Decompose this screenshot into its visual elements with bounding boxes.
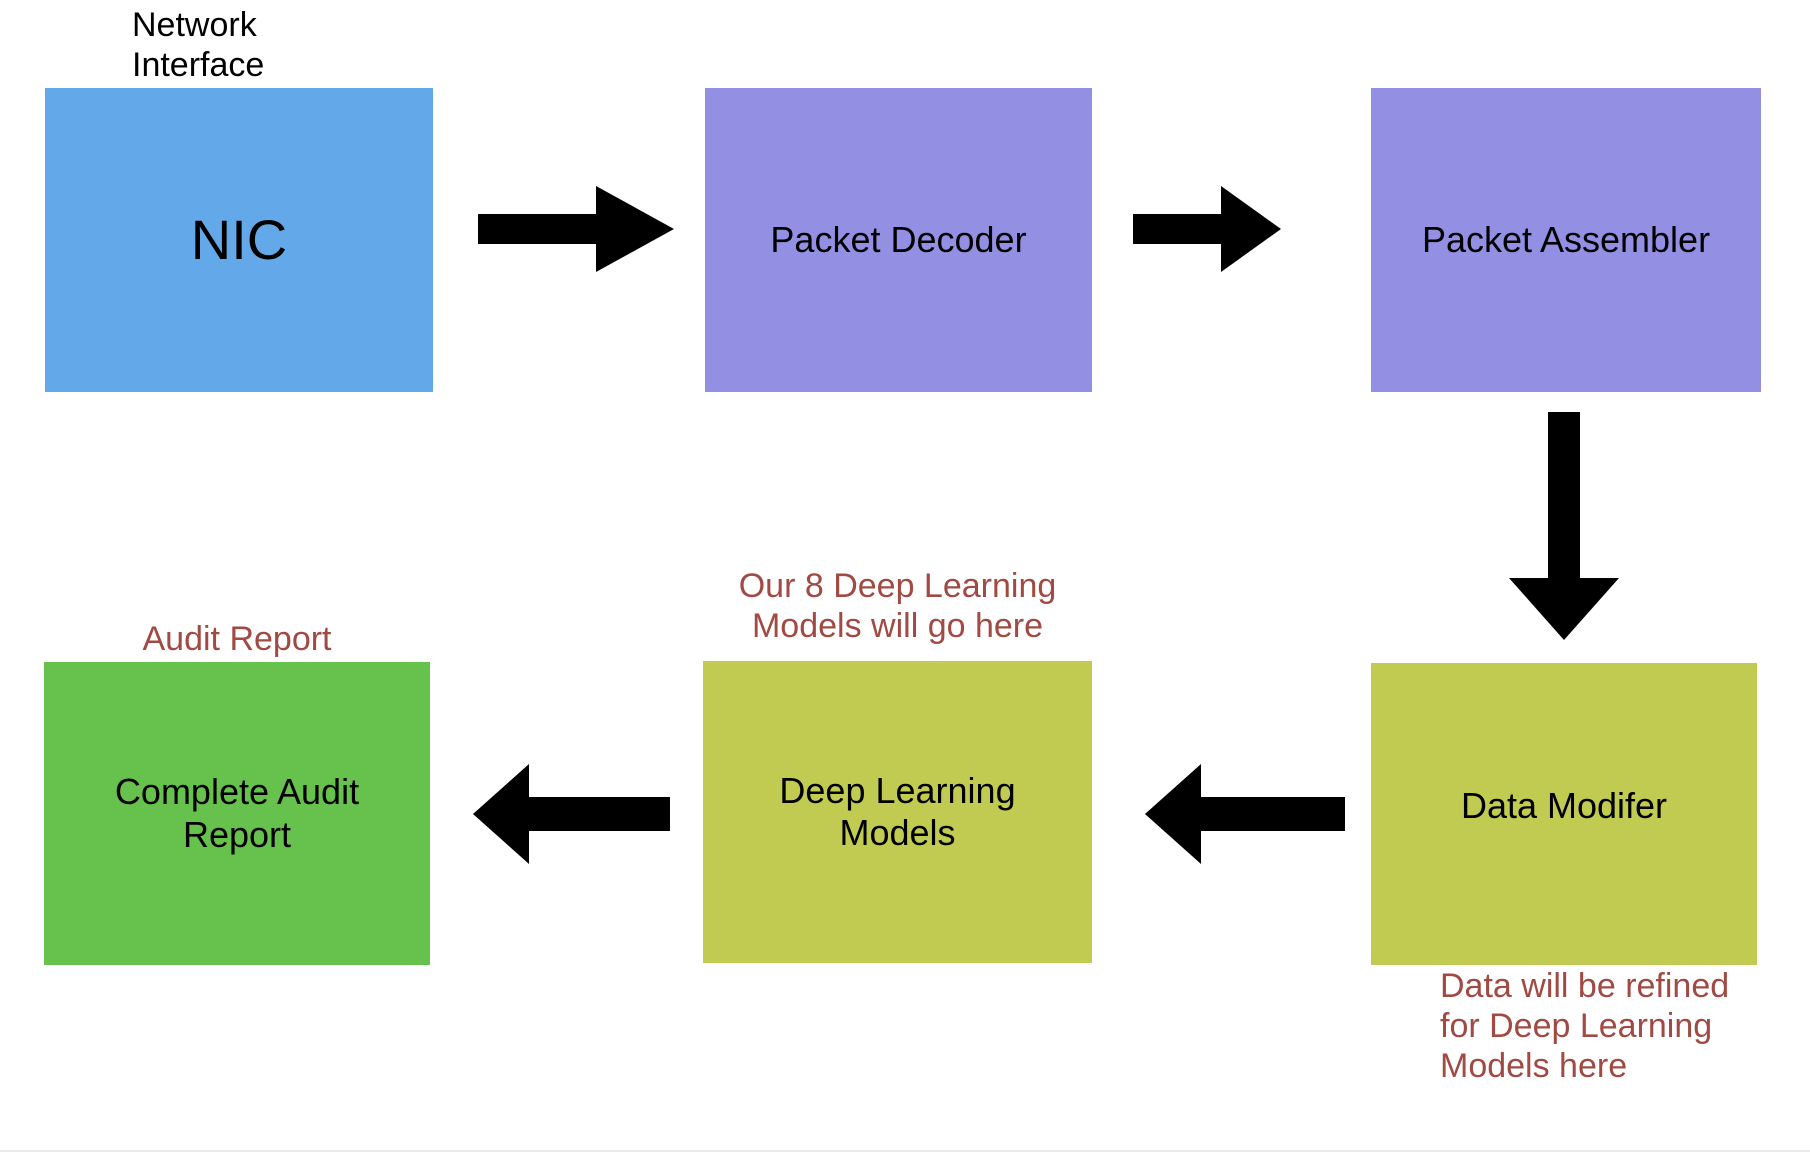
label-network-interface: Network Interface <box>132 5 264 85</box>
label-audit-report: Audit Report <box>44 619 430 659</box>
node-nic[interactable]: NIC <box>45 88 433 392</box>
label-data-refinement-note: Data will be refined for Deep Learning M… <box>1440 966 1770 1086</box>
node-deep-learning-models-label: Deep Learning Models <box>779 770 1015 855</box>
arrow-left-icon-modifer-to-deep-learning-models <box>1145 764 1345 864</box>
node-packet-assembler[interactable]: Packet Assembler <box>1371 88 1761 392</box>
node-complete-audit-report[interactable]: Complete Audit Report <box>44 662 430 965</box>
node-complete-audit-report-label: Complete Audit Report <box>115 771 359 856</box>
node-data-modifer-label: Data Modifer <box>1461 785 1667 827</box>
arrow-right-icon-decoder-to-assembler <box>1133 186 1281 272</box>
node-packet-assembler-label: Packet Assembler <box>1422 219 1710 261</box>
diagram-canvas: Network Interface NIC Packet Decoder Pac… <box>0 0 1810 1152</box>
node-packet-decoder-label: Packet Decoder <box>770 219 1026 261</box>
label-deep-learning-models-note: Our 8 Deep Learning Models will go here <box>703 566 1092 646</box>
node-nic-label: NIC <box>191 207 287 273</box>
arrow-left-icon-deep-learning-models-to-report <box>473 764 670 864</box>
arrow-right-icon-nic-to-decoder <box>478 186 674 272</box>
arrow-down-icon-assembler-to-modifer <box>1509 412 1619 640</box>
node-data-modifer[interactable]: Data Modifer <box>1371 663 1757 965</box>
node-packet-decoder[interactable]: Packet Decoder <box>705 88 1092 392</box>
node-deep-learning-models[interactable]: Deep Learning Models <box>703 661 1092 963</box>
